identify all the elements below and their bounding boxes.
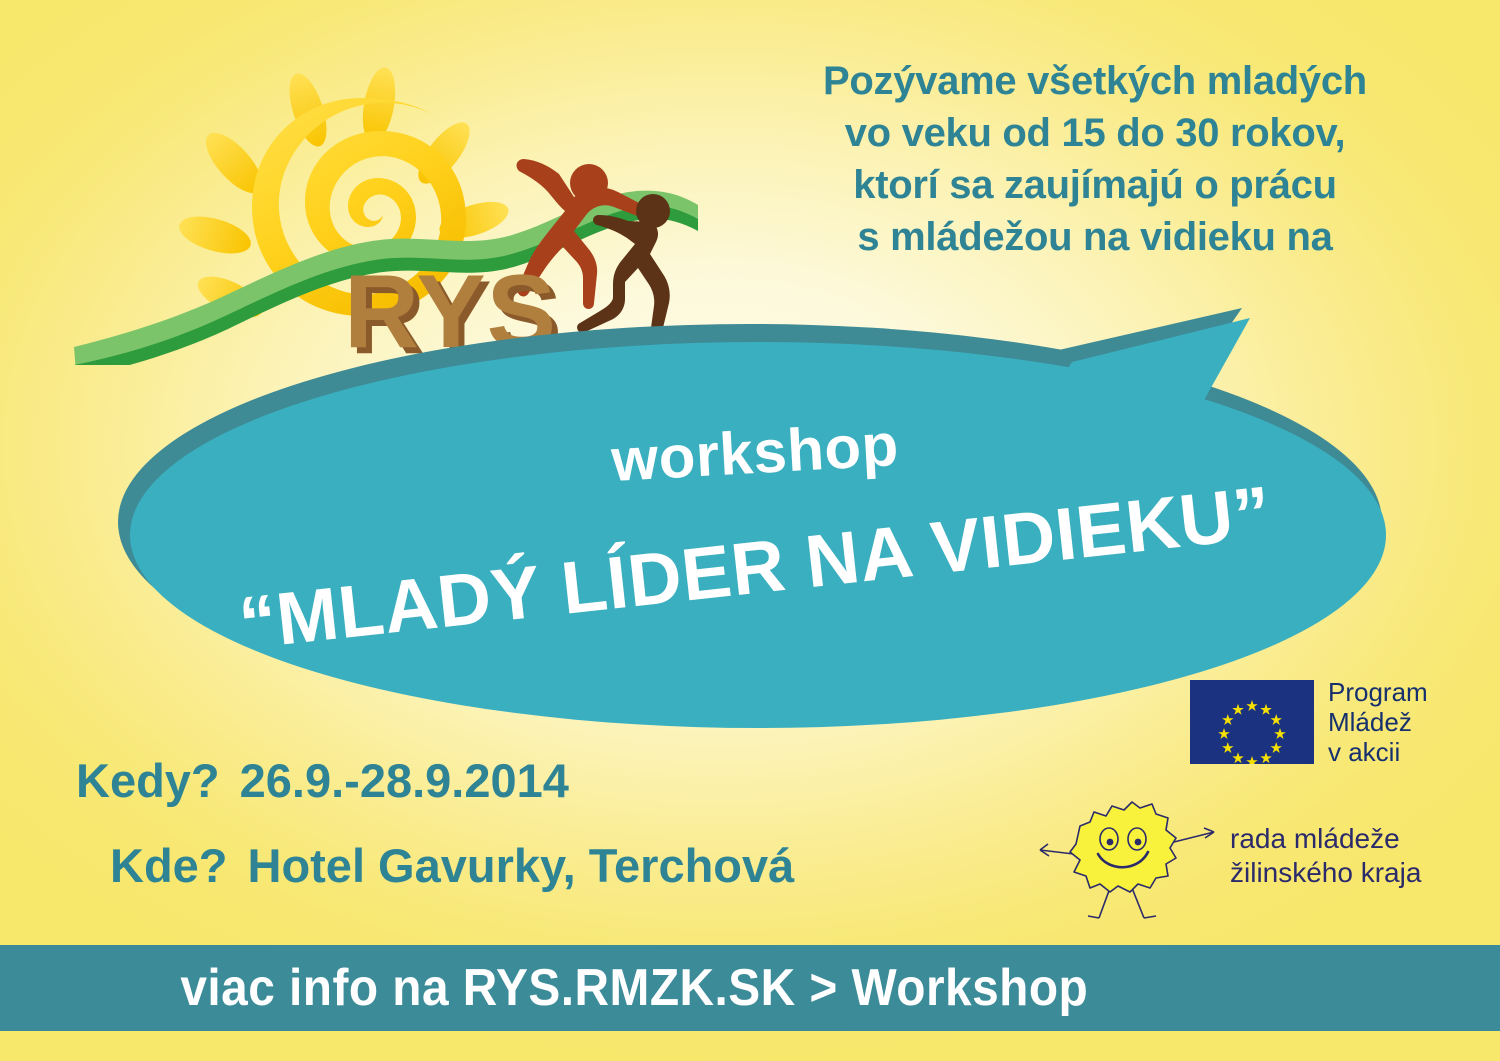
speech-bubble <box>110 300 1400 730</box>
eu-caption-line-2: Mládež <box>1328 707 1428 737</box>
headline-line-1: Pozývame všetkých mladých <box>740 55 1450 107</box>
where-label: Kde? <box>110 839 228 892</box>
where-value: Hotel Gavurky, Terchová <box>248 839 795 892</box>
event-location-row: Kde?Hotel Gavurky, Terchová <box>70 842 1030 889</box>
rmzk-logo: rada mládeže žilinského kraja <box>1036 792 1421 920</box>
footer-url-text: viac info na RYS.RMZK.SK > Workshop <box>0 958 1088 1018</box>
when-label: Kedy? <box>76 754 220 807</box>
zilina-region-mascot-icon <box>1036 792 1226 920</box>
eu-flag-icon <box>1190 680 1314 764</box>
rmzk-caption-line-2: žilinského kraja <box>1230 856 1421 890</box>
footer-banner: viac info na RYS.RMZK.SK > Workshop <box>0 945 1500 1031</box>
rmzk-caption-line-1: rada mládeže <box>1230 822 1421 856</box>
event-date-row: Kedy?26.9.-28.9.2014 <box>70 757 1030 804</box>
headline-line-3: ktorí sa zaujímajú o prácu <box>740 159 1450 211</box>
eu-caption-line-3: v akcii <box>1328 737 1428 767</box>
headline-line-2: vo veku od 15 do 30 rokov, <box>740 107 1450 159</box>
when-value: 26.9.-28.9.2014 <box>240 754 569 807</box>
event-details: Kedy?26.9.-28.9.2014 Kde?Hotel Gavurky, … <box>70 757 1030 889</box>
headline-paragraph: Pozývame všetkých mladých vo veku od 15 … <box>740 55 1450 263</box>
eu-programme-logo: Program Mládež v akcii <box>1190 677 1428 767</box>
poster-canvas: RYS RYS Pozývame všetkých mladých vo vek… <box>0 0 1500 1061</box>
rmzk-logo-caption: rada mládeže žilinského kraja <box>1230 822 1421 889</box>
eu-logo-caption: Program Mládež v akcii <box>1328 677 1428 767</box>
headline-line-4: s mládežou na vidieku na <box>740 211 1450 263</box>
eu-caption-line-1: Program <box>1328 677 1428 707</box>
